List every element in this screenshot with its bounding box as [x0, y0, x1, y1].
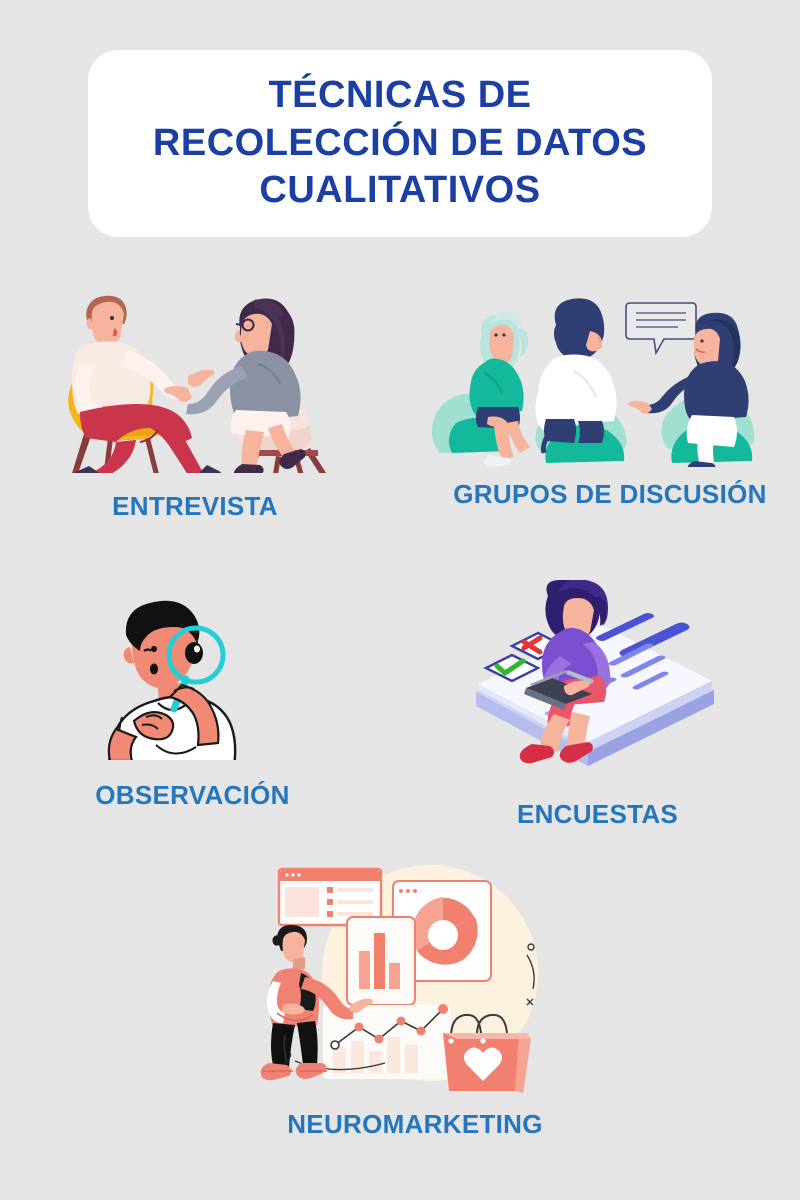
- item-label-entrevista: ENTREVISTA: [40, 491, 350, 522]
- item-neuromarketing: NEUROMARKETING: [255, 855, 575, 1140]
- item-grupos-de-discusion: GRUPOS DE DISCUSIÓN: [430, 295, 790, 510]
- page-title: TÉCNICAS DE RECOLECCIÓN DE DATOS CUALITA…: [133, 72, 667, 215]
- item-entrevista: ENTREVISTA: [40, 278, 350, 522]
- item-label-neuromarketing: NEUROMARKETING: [255, 1109, 575, 1140]
- item-label-observacion: OBSERVACIÓN: [60, 780, 325, 811]
- item-label-encuestas: ENCUESTAS: [470, 799, 725, 830]
- focus-group-illustration: [430, 295, 790, 467]
- item-label-grupos: GRUPOS DE DISCUSIÓN: [430, 479, 790, 510]
- neuromarketing-illustration: [255, 855, 575, 1095]
- surveys-illustration: [470, 580, 725, 775]
- observation-illustration: [60, 595, 325, 760]
- item-observacion: OBSERVACIÓN: [60, 595, 325, 811]
- interview-illustration: [40, 278, 350, 473]
- item-encuestas: ENCUESTAS: [470, 580, 725, 830]
- title-card: TÉCNICAS DE RECOLECCIÓN DE DATOS CUALITA…: [88, 50, 712, 237]
